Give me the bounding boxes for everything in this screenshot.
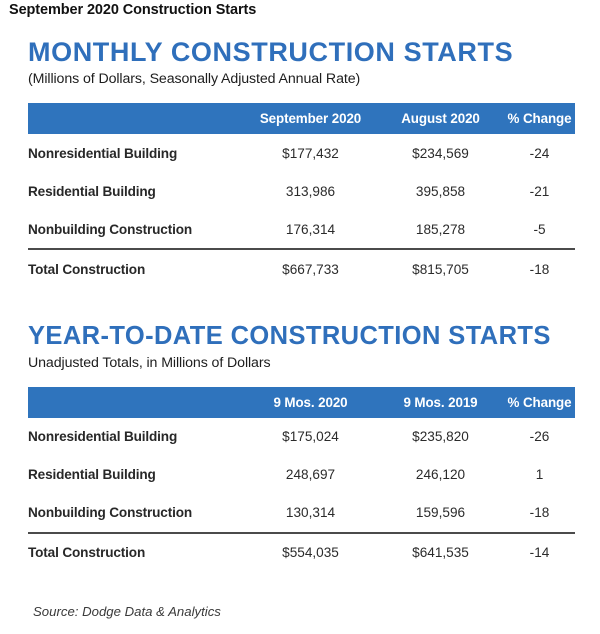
row-value-prior: $234,569 <box>377 134 504 172</box>
row-label: Nonresidential Building <box>28 134 244 172</box>
row-value-current: 313,986 <box>244 172 377 210</box>
table-row: Nonresidential Building $175,024 $235,82… <box>28 418 575 456</box>
row-percent-change: -24 <box>504 134 575 172</box>
column-header-current-period: September 2020 <box>244 103 377 134</box>
table-row: Nonbuilding Construction 130,314 159,596… <box>28 494 575 533</box>
column-header-current-period: 9 Mos. 2020 <box>244 387 377 418</box>
section-monthly-construction-starts: MONTHLY CONSTRUCTION STARTS (Millions of… <box>0 38 600 288</box>
table-body: Nonresidential Building $177,432 $234,56… <box>28 134 575 288</box>
table-total-row: Total Construction $667,733 $815,705 -18 <box>28 249 575 288</box>
table-total-row: Total Construction $554,035 $641,535 -14 <box>28 533 575 572</box>
row-label: Residential Building <box>28 456 244 494</box>
column-header-category <box>28 387 244 418</box>
total-label: Total Construction <box>28 249 244 288</box>
total-value-prior: $641,535 <box>377 533 504 572</box>
column-header-percent-change: % Change <box>504 387 575 418</box>
table-header-row: September 2020 August 2020 % Change <box>28 103 575 134</box>
row-value-prior: 185,278 <box>377 210 504 249</box>
table-row: Residential Building 248,697 246,120 1 <box>28 456 575 494</box>
row-percent-change: -18 <box>504 494 575 533</box>
source-note: Source: Dodge Data & Analytics <box>33 604 221 619</box>
column-header-prior-period: 9 Mos. 2019 <box>377 387 504 418</box>
table-row: Nonresidential Building $177,432 $234,56… <box>28 134 575 172</box>
section-title-monthly: MONTHLY CONSTRUCTION STARTS <box>28 38 600 67</box>
total-value-current: $554,035 <box>244 533 377 572</box>
table-header: 9 Mos. 2020 9 Mos. 2019 % Change <box>28 387 575 418</box>
section-title-ytd: YEAR-TO-DATE CONSTRUCTION STARTS <box>28 323 600 351</box>
row-value-prior: $235,820 <box>377 418 504 456</box>
table-header: September 2020 August 2020 % Change <box>28 103 575 134</box>
table-body: Nonresidential Building $175,024 $235,82… <box>28 418 575 572</box>
row-percent-change: -21 <box>504 172 575 210</box>
row-value-current: $175,024 <box>244 418 377 456</box>
row-percent-change: -5 <box>504 210 575 249</box>
section-subtitle-ytd: Unadjusted Totals, in Millions of Dollar… <box>28 355 600 371</box>
column-header-percent-change: % Change <box>504 103 575 134</box>
monthly-construction-starts-table: September 2020 August 2020 % Change Nonr… <box>28 103 575 288</box>
row-value-current: 248,697 <box>244 456 377 494</box>
page-title: September 2020 Construction Starts <box>9 2 256 18</box>
row-label: Nonbuilding Construction <box>28 494 244 533</box>
total-label: Total Construction <box>28 533 244 572</box>
section-subtitle-monthly: (Millions of Dollars, Seasonally Adjuste… <box>28 71 600 87</box>
row-value-current: $177,432 <box>244 134 377 172</box>
section-year-to-date-construction-starts: YEAR-TO-DATE CONSTRUCTION STARTS Unadjus… <box>0 323 600 572</box>
row-value-current: 176,314 <box>244 210 377 249</box>
row-value-prior: 159,596 <box>377 494 504 533</box>
row-label: Residential Building <box>28 172 244 210</box>
table-row: Residential Building 313,986 395,858 -21 <box>28 172 575 210</box>
table-row: Nonbuilding Construction 176,314 185,278… <box>28 210 575 249</box>
total-value-prior: $815,705 <box>377 249 504 288</box>
year-to-date-construction-starts-table: 9 Mos. 2020 9 Mos. 2019 % Change Nonresi… <box>28 387 575 572</box>
row-label: Nonresidential Building <box>28 418 244 456</box>
column-header-category <box>28 103 244 134</box>
table-header-row: 9 Mos. 2020 9 Mos. 2019 % Change <box>28 387 575 418</box>
total-percent-change: -18 <box>504 249 575 288</box>
row-percent-change: 1 <box>504 456 575 494</box>
column-header-prior-period: August 2020 <box>377 103 504 134</box>
row-label: Nonbuilding Construction <box>28 210 244 249</box>
row-percent-change: -26 <box>504 418 575 456</box>
row-value-current: 130,314 <box>244 494 377 533</box>
total-percent-change: -14 <box>504 533 575 572</box>
total-value-current: $667,733 <box>244 249 377 288</box>
row-value-prior: 395,858 <box>377 172 504 210</box>
row-value-prior: 246,120 <box>377 456 504 494</box>
